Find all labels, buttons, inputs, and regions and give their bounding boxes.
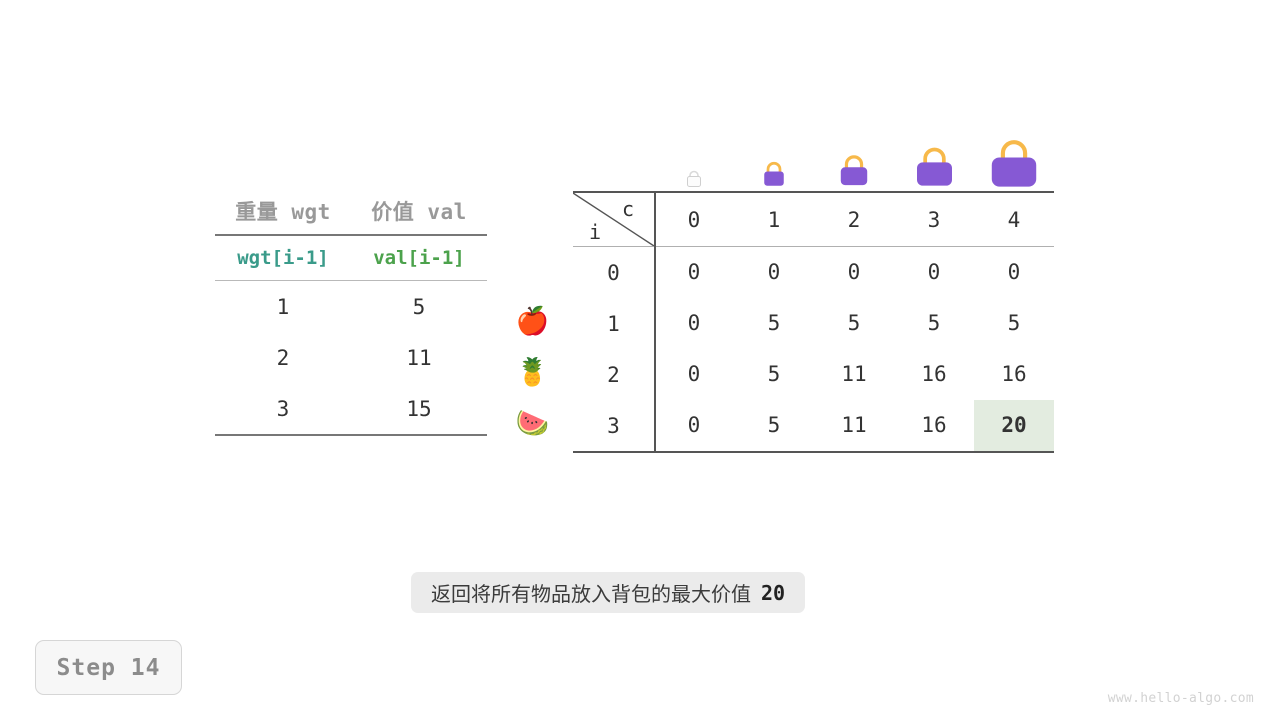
items-subheader-wgt: wgt[i-1] (215, 247, 351, 269)
dp-corner-row-label: i (589, 220, 601, 244)
dp-cell: 11 (814, 349, 894, 400)
dp-row-header: 3 (573, 414, 654, 438)
caption-banner: 返回将所有物品放入背包的最大价值 20 (411, 572, 805, 613)
dp-col-header: 2 (814, 208, 894, 232)
bag-icon-0 (654, 116, 734, 190)
caption-text: 返回将所有物品放入背包的最大价值 (431, 578, 751, 607)
items-table-header-row: 重量 wgt 价值 val (215, 188, 487, 234)
items-subheader-val: val[i-1] (351, 247, 487, 269)
bag-icon-3 (894, 116, 974, 190)
items-table-subheader-row: wgt[i-1] val[i-1] (215, 236, 487, 280)
dp-row: 3 0 5 11 16 20 (573, 400, 1054, 451)
item-value-cell: 5 (351, 295, 487, 319)
fruit-icon-column: 🍎 🍍 🍉 (505, 296, 560, 449)
dp-cell: 5 (734, 400, 814, 451)
dp-col-header: 3 (894, 208, 974, 232)
dp-cell: 0 (654, 349, 734, 400)
dp-cell: 5 (734, 349, 814, 400)
watermark: www.hello-algo.com (1108, 691, 1254, 706)
dp-col-header: 1 (734, 208, 814, 232)
dp-row-header: 2 (573, 363, 654, 387)
dp-rule-bottom (573, 451, 1054, 453)
dp-cell: 5 (894, 298, 974, 349)
dp-cell: 0 (654, 247, 734, 298)
item-weight-cell: 1 (215, 295, 351, 319)
dp-row-header: 1 (573, 312, 654, 336)
items-row: 3 15 (215, 383, 487, 434)
dp-cell: 16 (894, 400, 974, 451)
step-badge: Step 14 (35, 640, 182, 695)
dp-cell: 5 (814, 298, 894, 349)
dp-cell: 0 (974, 247, 1054, 298)
dp-row: 1 0 5 5 5 5 (573, 298, 1054, 349)
dp-cell: 0 (654, 400, 734, 451)
dp-cell: 16 (894, 349, 974, 400)
item-weight-cell: 3 (215, 397, 351, 421)
dp-row: 2 0 5 11 16 16 (573, 349, 1054, 400)
dp-cell: 0 (894, 247, 974, 298)
items-table-rule-bottom (215, 434, 487, 436)
dp-grid: i c 0 1 2 3 4 0 0 0 0 0 0 1 0 5 5 5 5 (573, 193, 1054, 451)
dp-cell-highlighted: 20 (974, 400, 1054, 451)
dp-corner-cell: i c (573, 193, 654, 246)
apple-icon: 🍎 (505, 296, 560, 347)
dp-table: i c 0 1 2 3 4 0 0 0 0 0 0 1 0 5 5 5 5 (573, 191, 1054, 453)
caption-number: 20 (761, 581, 785, 605)
dp-col-header: 0 (654, 208, 734, 232)
bag-icon-2 (814, 116, 894, 190)
items-table: 重量 wgt 价值 val wgt[i-1] val[i-1] 1 5 2 11… (215, 188, 487, 436)
item-value-cell: 15 (351, 397, 487, 421)
bag-icons-row (573, 118, 1054, 190)
dp-cell: 5 (734, 298, 814, 349)
bag-icon-4 (974, 116, 1054, 190)
dp-row: 0 0 0 0 0 0 (573, 247, 1054, 298)
dp-cell: 16 (974, 349, 1054, 400)
dp-cell: 0 (734, 247, 814, 298)
items-header-weight: 重量 wgt (215, 196, 351, 226)
dp-vertical-divider (654, 193, 656, 451)
dp-col-header: 4 (974, 208, 1054, 232)
dp-cell: 0 (814, 247, 894, 298)
dp-corner-col-label: c (622, 197, 634, 221)
dp-cell: 5 (974, 298, 1054, 349)
watermelon-icon: 🍉 (505, 398, 560, 449)
items-row: 2 11 (215, 332, 487, 383)
dp-row-header: 0 (573, 261, 654, 285)
dp-cell: 0 (654, 298, 734, 349)
bag-icon-1 (734, 116, 814, 190)
items-header-value: 价值 val (351, 196, 487, 226)
item-value-cell: 11 (351, 346, 487, 370)
item-weight-cell: 2 (215, 346, 351, 370)
items-row: 1 5 (215, 281, 487, 332)
dp-cell: 11 (814, 400, 894, 451)
diagonal-divider-icon (573, 193, 654, 246)
dp-header-row: i c 0 1 2 3 4 (573, 193, 1054, 246)
pineapple-icon: 🍍 (505, 347, 560, 398)
